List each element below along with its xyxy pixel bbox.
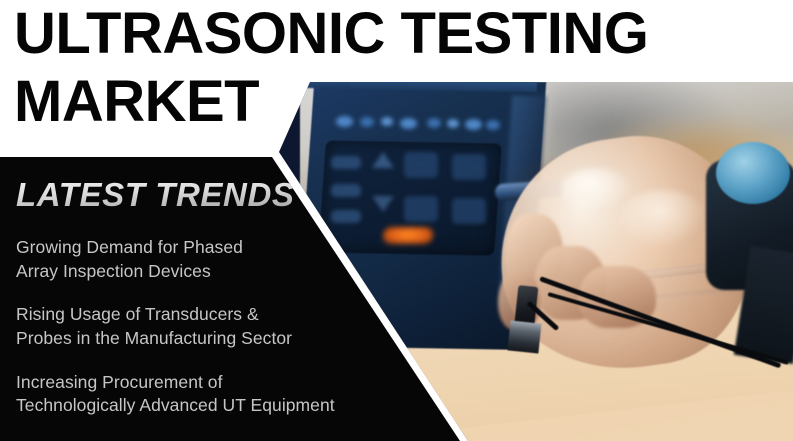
list-item: Rising Usage of Transducers & Probes in … bbox=[16, 303, 416, 350]
page-title: ULTRASONIC TESTING MARKET bbox=[14, 2, 744, 129]
list-item: Increasing Procurement of Technologicall… bbox=[16, 371, 416, 418]
keypad-key bbox=[331, 184, 361, 197]
keypad-key bbox=[404, 196, 438, 222]
keypad-down-arrow-icon bbox=[372, 196, 394, 212]
ultrasonic-probe-wedge bbox=[508, 320, 542, 353]
hand-knuckle-highlight bbox=[620, 190, 706, 248]
title-line-2: MARKET bbox=[14, 74, 744, 130]
section-heading: LATEST TRENDS bbox=[16, 176, 295, 214]
keypad-key bbox=[331, 156, 361, 169]
power-indicator-icon bbox=[383, 227, 434, 244]
keypad-up-arrow-icon bbox=[372, 152, 394, 168]
keypad-key bbox=[452, 154, 486, 180]
keypad-key bbox=[331, 210, 361, 223]
wrist-watch-face bbox=[716, 142, 790, 204]
hand-knuckle-highlight bbox=[560, 168, 632, 212]
title-line-1: ULTRASONIC TESTING bbox=[14, 6, 744, 62]
ultrasonic-testing-market-banner: ULTRASONIC TESTING MARKET LATEST TRENDS … bbox=[0, 0, 793, 441]
keypad-key bbox=[404, 152, 438, 178]
keypad-key bbox=[452, 198, 486, 224]
